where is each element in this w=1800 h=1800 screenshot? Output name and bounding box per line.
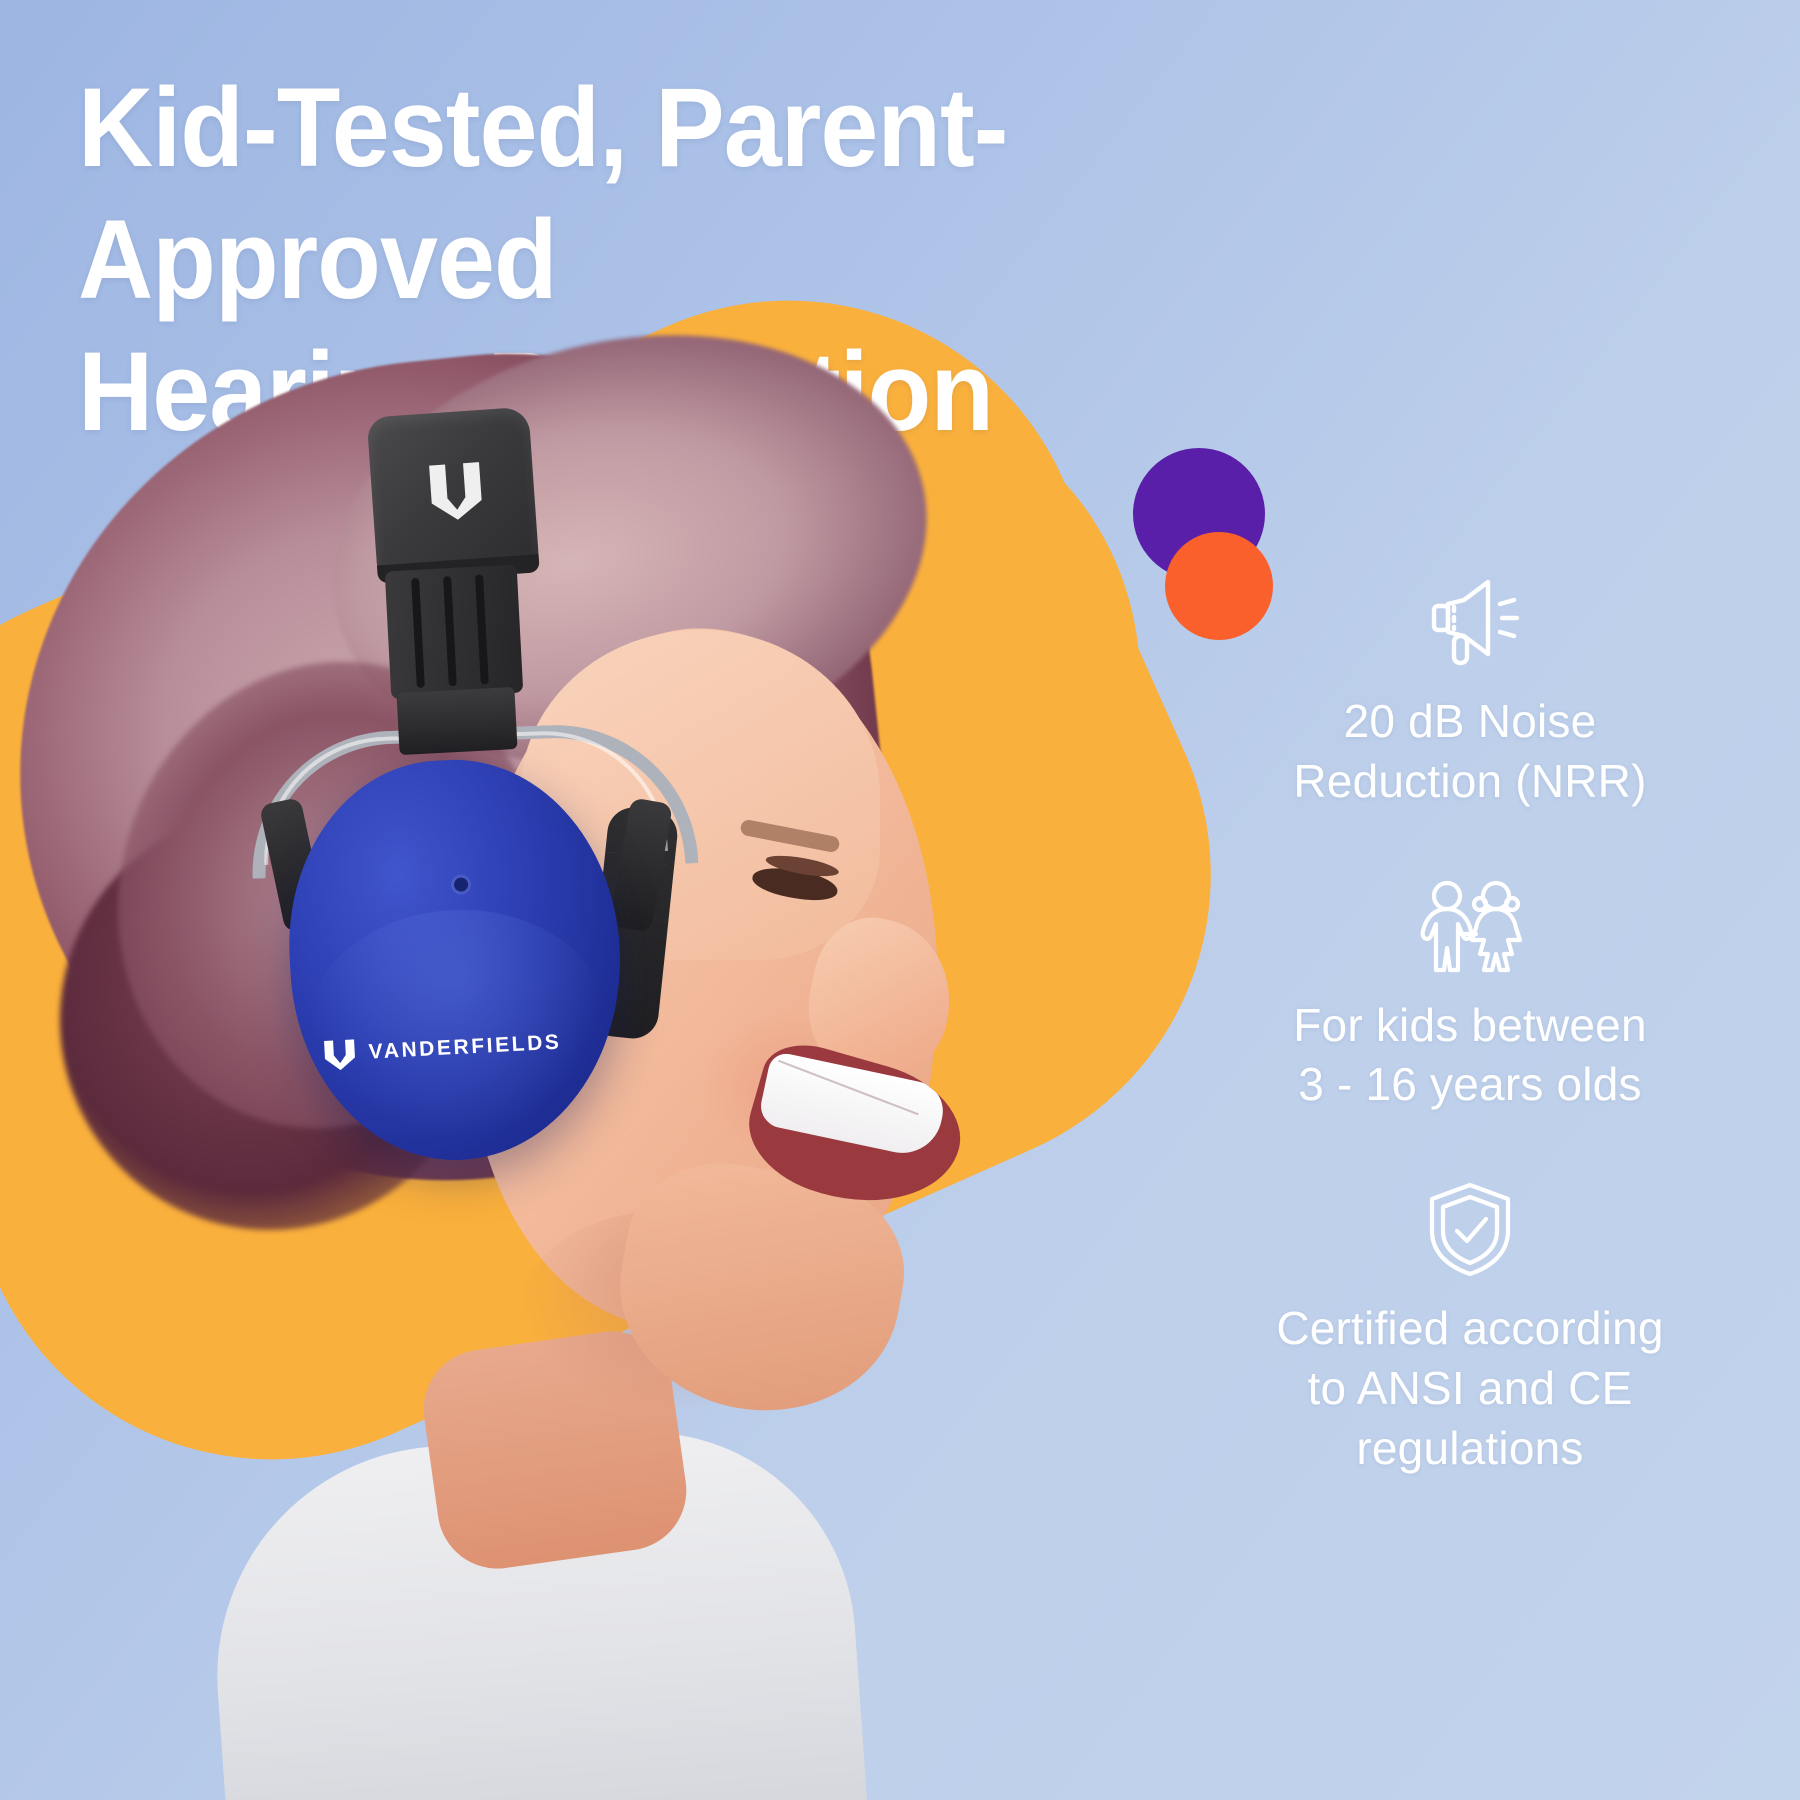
feature-text: For kids between 3 - 16 years olds <box>1293 996 1646 1116</box>
earmuff-slider <box>385 565 524 700</box>
feature-text: 20 dB Noise Reduction (NRR) <box>1293 692 1646 812</box>
feature-text: Certified according to ANSI and CE regul… <box>1276 1299 1663 1478</box>
feature-line-1: For kids between <box>1293 996 1646 1056</box>
feature-list: 20 dB Noise Reduction (NRR) For kids bet… <box>1190 570 1750 1479</box>
feature-item-certification: Certified according to ANSI and CE regul… <box>1190 1177 1750 1478</box>
feature-item-noise-reduction: 20 dB Noise Reduction (NRR) <box>1190 570 1750 812</box>
earmuff-hinge <box>396 687 517 755</box>
earmuff-top-pad <box>367 407 540 578</box>
feature-line-2: 3 - 16 years olds <box>1293 1055 1646 1115</box>
product-hero-image: VANDERFIELDS <box>0 330 1120 1800</box>
feature-line-3: regulations <box>1276 1419 1663 1479</box>
v-monogram-icon <box>322 1036 358 1072</box>
shield-check-icon <box>1422 1177 1518 1281</box>
feature-line-2: Reduction (NRR) <box>1293 752 1646 812</box>
promo-banner: Kid-Tested, Parent-Approved Hearing Prot… <box>0 0 1800 1800</box>
feature-line-2: to ANSI and CE <box>1276 1359 1663 1419</box>
kids-pair-icon <box>1414 874 1526 978</box>
brand-name: VANDERFIELDS <box>368 1031 562 1065</box>
v-monogram-icon <box>425 456 487 522</box>
feature-line-1: Certified according <box>1276 1299 1663 1359</box>
megaphone-icon <box>1418 570 1522 674</box>
feature-item-age-range: For kids between 3 - 16 years olds <box>1190 874 1750 1116</box>
feature-line-1: 20 dB Noise <box>1293 692 1646 752</box>
headline-line-1: Kid-Tested, Parent-Approved <box>78 65 1008 322</box>
earmuff-vent-dot <box>454 877 469 892</box>
